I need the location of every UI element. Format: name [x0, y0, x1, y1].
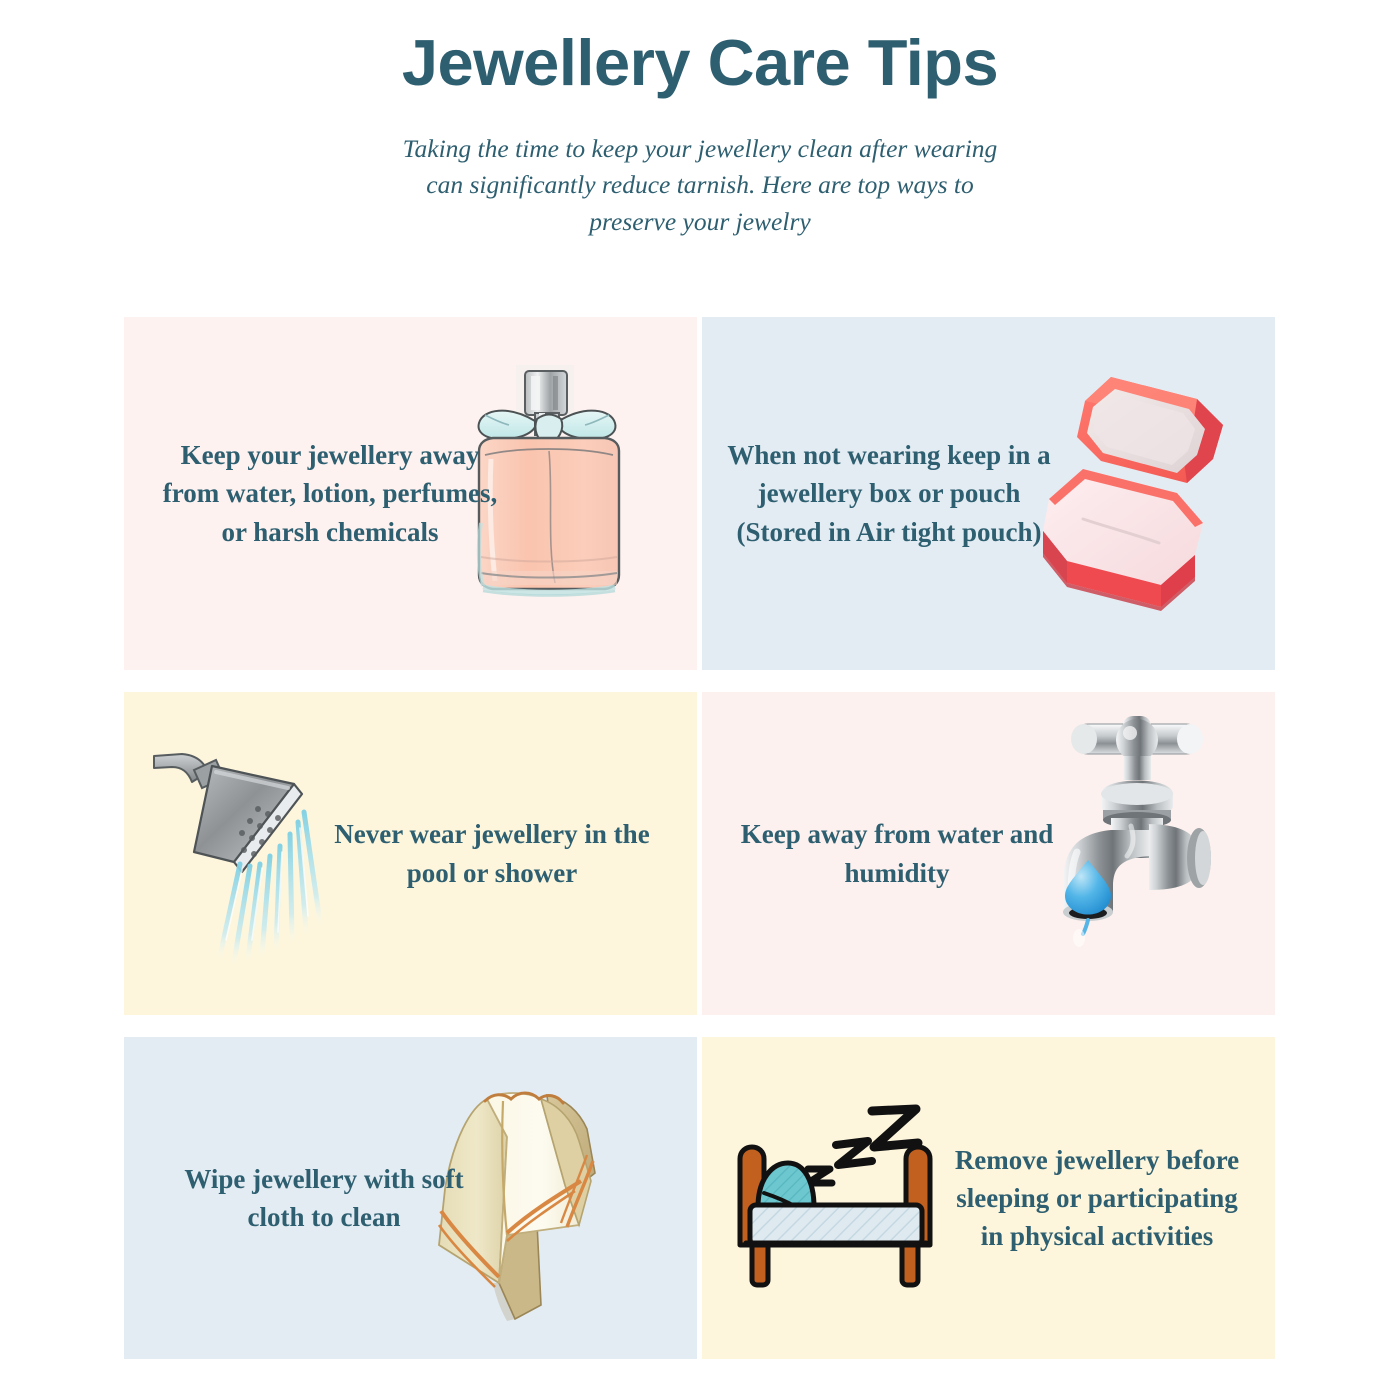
tip-card-water-lotion-perfume: Keep your jewellery away from water, lot… [124, 317, 697, 670]
page-subtitle: Taking the time to keep your jewellery c… [390, 131, 1010, 240]
tip-card-text: Never wear jewellery in the pool or show… [327, 815, 657, 892]
tip-card-wipe-with-soft-cloth: Wipe jewellery with soft cloth to clean [124, 1037, 697, 1359]
page-title: Jewellery Care Tips [0, 22, 1400, 103]
tip-card-text: Keep your jewellery away from water, lot… [150, 436, 510, 551]
infographic-page: Jewellery Care Tips Taking the time to k… [0, 0, 1400, 1400]
tip-card-remove-before-sleeping: Remove jewellery before sleeping or part… [702, 1037, 1275, 1359]
header: Jewellery Care Tips Taking the time to k… [0, 0, 1400, 240]
tip-card-text: Keep away from water and humidity [732, 815, 1062, 892]
tip-card-water-and-humidity: Keep away from water and humidity [702, 692, 1275, 1015]
tip-card-text: When not wearing keep in a jewellery box… [724, 436, 1054, 551]
tip-card-text: Remove jewellery before sleeping or part… [947, 1141, 1247, 1256]
jewellery-box-icon [1027, 359, 1257, 609]
tip-card-text: Wipe jewellery with soft cloth to clean [154, 1160, 494, 1237]
tip-card-pool-or-shower: Never wear jewellery in the pool or show… [124, 692, 697, 1015]
tips-grid: Keep your jewellery away from water, lot… [124, 317, 1275, 1359]
bed-sleeping-icon [722, 1097, 972, 1307]
tip-card-jewellery-box-storage: When not wearing keep in a jewellery box… [702, 317, 1275, 670]
